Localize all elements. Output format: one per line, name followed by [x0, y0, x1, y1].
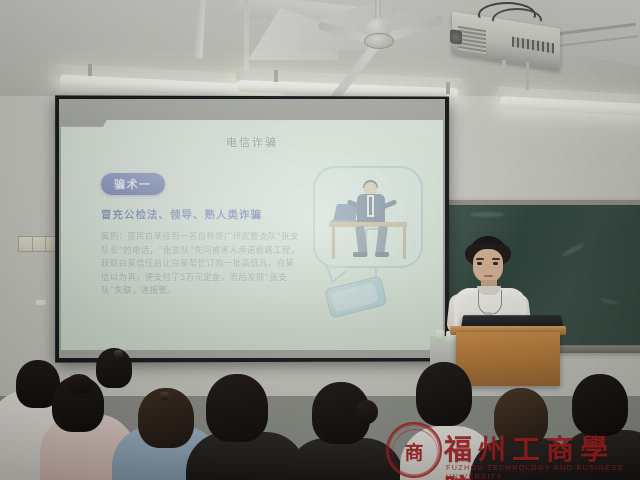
- slide-title: 电信诈骗: [61, 134, 443, 150]
- light-switch[interactable]: [19, 237, 33, 251]
- projector-vent: [458, 26, 486, 54]
- wall-mark: [36, 300, 46, 305]
- illustration-person-tie: [369, 197, 372, 215]
- presentation-slide: 电信诈骗 骗术一 冒充公检法、领导、熟人类诈骗 案例：居民白某接到一名自称是广州…: [61, 120, 443, 350]
- presenter-eyebrow: [492, 258, 500, 260]
- ceiling-column: [392, 0, 396, 26]
- slide-case-text: 案例：居民白某接到一名自称是广州武警支队“张支队长”的电话，“张支队”先问被害人…: [101, 230, 301, 298]
- slide-illustration: [299, 164, 425, 314]
- ceiling-fan: [364, 33, 394, 49]
- audience: [0, 352, 640, 480]
- lamp-bracket: [274, 70, 278, 82]
- audience-head: [572, 374, 628, 436]
- projector-mount: [502, 60, 506, 82]
- audience-head: [494, 388, 548, 446]
- slide-subheading: 冒充公检法、领导、熟人类诈骗: [101, 207, 262, 222]
- lamp-bracket: [446, 82, 450, 94]
- presenter-eye: [477, 262, 482, 265]
- lamp-bracket: [88, 64, 92, 76]
- projector-mount: [526, 62, 529, 90]
- hair-clip: [114, 350, 123, 358]
- illustration-desk-leg: [332, 227, 335, 259]
- presenter-face: [473, 249, 503, 283]
- presenter-mouth: [484, 275, 493, 277]
- slide-badge: 骗术一: [101, 173, 165, 195]
- light-switch[interactable]: [33, 237, 47, 251]
- illustration-shoe: [375, 252, 389, 257]
- audience-head: [416, 362, 472, 426]
- presenter-eyebrow: [476, 258, 484, 260]
- audience-shoulders: [556, 430, 640, 480]
- projector-lens-icon: [450, 29, 462, 45]
- chalk-smudge: [470, 212, 504, 217]
- audience-shoulders: [286, 438, 404, 480]
- hair-clip: [160, 392, 169, 400]
- water-bottle: [436, 330, 444, 342]
- hair-bun: [356, 400, 378, 424]
- classroom-photo: 电信诈骗 骗术一 冒充公检法、领导、熟人类诈骗 案例：居民白某接到一名自称是广州…: [0, 0, 640, 480]
- audience-head: [206, 374, 268, 442]
- presenter-eye: [493, 262, 498, 265]
- illustration-desk-leg: [403, 227, 406, 259]
- hair-bun: [66, 374, 92, 394]
- illustration-shoe: [353, 252, 367, 257]
- illustration-person-legs: [355, 226, 389, 256]
- phone-screen: [330, 282, 379, 312]
